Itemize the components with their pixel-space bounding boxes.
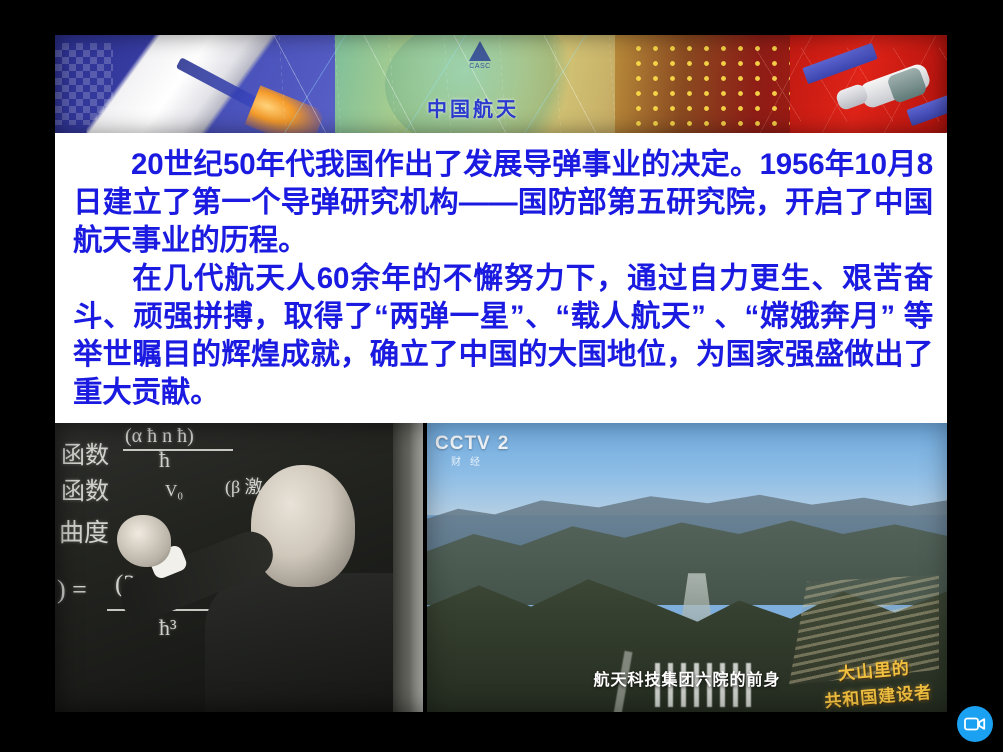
banner-artwork: CASC 中国航天: [55, 35, 947, 133]
casc-logo: CASC: [457, 41, 503, 83]
chalk-fraction-bar: [123, 449, 233, 451]
blackboard-frame-edge: [393, 423, 423, 712]
casc-logo-label: CASC: [457, 63, 503, 70]
cctv-watermark: CCTV2: [435, 433, 509, 455]
chalk-formula: V₀: [165, 481, 183, 501]
cctv-logo-text: CCTV: [435, 433, 491, 454]
chalk-text: 曲度: [59, 513, 109, 549]
mountain-valley-aerial-photo: CCTV2 财经 航天科技集团六院的前身 大山里的 共和国建设者: [427, 423, 947, 712]
slide-text-body: 20世纪50年代我国作出了发展导弹事业的决定。1956年10月8日建立了第一个导…: [55, 133, 947, 423]
paragraph-two: 在几代航天人60余年的不懈努力下，通过自力更生、艰苦奋斗、顽强拼搏，取得了“两弹…: [55, 260, 947, 412]
video-camera-button[interactable]: [957, 706, 993, 742]
cctv-channel-number: 2: [498, 433, 510, 454]
china-aerospace-banner-image: CASC 中国航天: [55, 35, 947, 133]
documentary-title-logo: 大山里的 共和国建设者: [821, 651, 943, 712]
chalk-text: 函数: [61, 471, 109, 506]
chalk-text: 函数: [61, 435, 109, 470]
chalk-formula: (α ћ n ћ): [125, 425, 194, 448]
chalk-formula: ) =: [57, 575, 87, 605]
cctv-channel-subtitle: 财经: [451, 453, 489, 468]
paragraph-one-text: 20世纪50年代我国作出了发展导弹事业的决定。1956年10月8日建立了第一个导…: [73, 148, 933, 257]
paragraph-one: 20世纪50年代我国作出了发展导弹事业的决定。1956年10月8日建立了第一个导…: [55, 133, 947, 260]
lecturer-torso: [205, 573, 423, 712]
presentation-slide: CASC 中国航天 20世纪50年代我国作出了发展导弹事业的决定。1956年10…: [0, 0, 1003, 752]
casc-triangle-icon: [469, 41, 491, 61]
paragraph-two-text: 在几代航天人60余年的不懈努力下，通过自力更生、艰苦奋斗、顽强拼搏，取得了“两弹…: [73, 262, 933, 409]
video-camera-icon: [964, 716, 986, 732]
banner-title-text: 中国航天: [427, 93, 519, 122]
chalk-formula: ћ³: [159, 615, 177, 641]
qian-xuesen-blackboard-photo: 函数 函数 曲度 (α ћ n ћ) ћ V₀ (β 激 ) = (2π ћ³: [55, 423, 423, 712]
lecturer-hand: [117, 515, 171, 567]
